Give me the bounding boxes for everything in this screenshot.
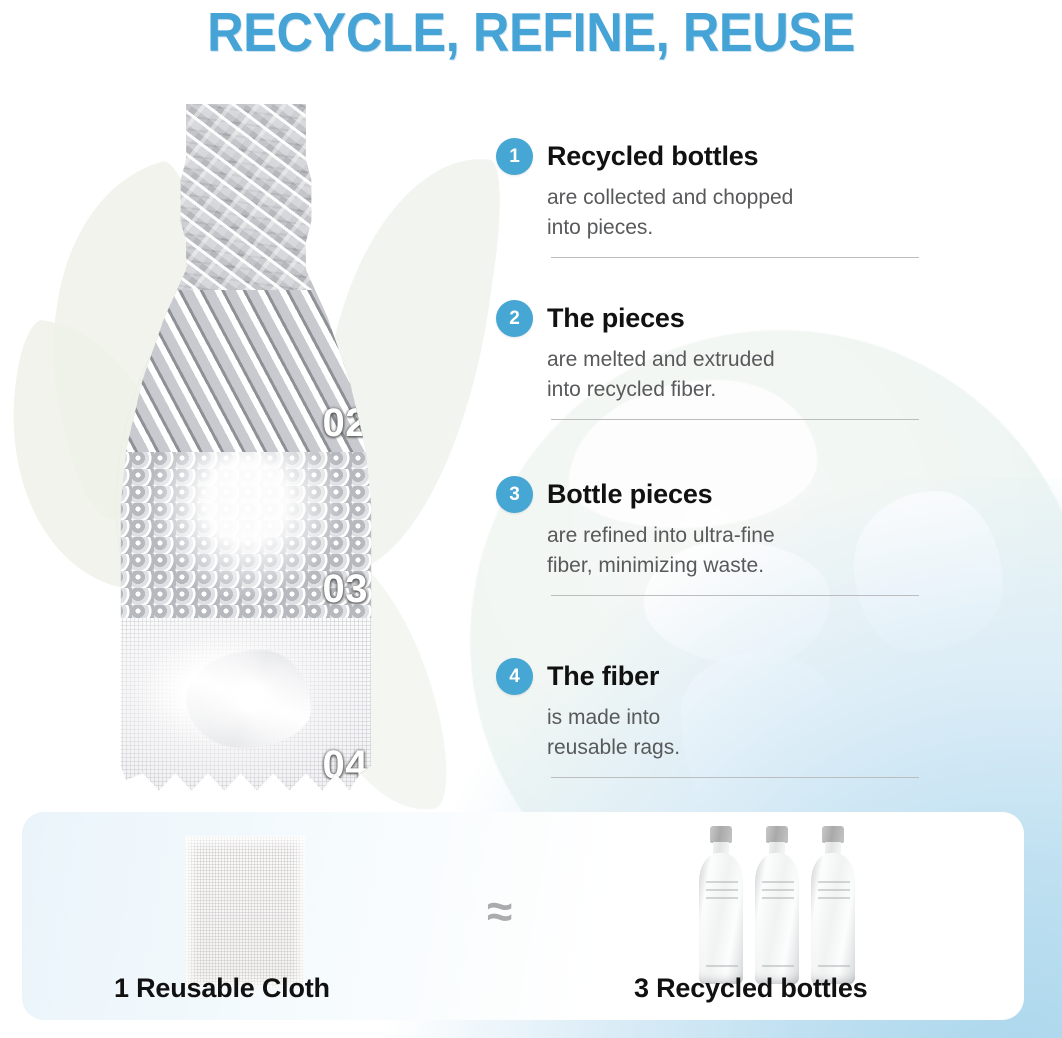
bottle-body (699, 853, 743, 984)
bottle-cap-icon (766, 826, 788, 843)
step-header: 4 The fiber (496, 658, 926, 695)
mini-bottle-icon (810, 826, 856, 984)
step-description: are melted and extruded into recycled fi… (547, 345, 926, 405)
process-step-4: 4 The fiber is made into reusable rags. (496, 658, 926, 788)
step-divider (551, 595, 919, 596)
step-header: 3 Bottle pieces (496, 476, 926, 513)
bottle-band-04: 04 (110, 618, 382, 794)
bottle-rib (706, 965, 738, 967)
step-number-badge: 2 (496, 300, 533, 337)
reusable-cloth-label: 1 Reusable Cloth (114, 973, 330, 1004)
bottle-silhouette-graphic: 01 02 03 04 (110, 104, 382, 794)
bottle-rib (818, 897, 850, 899)
step-title: Recycled bottles (547, 141, 758, 172)
bottle-body (755, 853, 799, 984)
bottle-band-01: 01 (110, 104, 382, 290)
step-description: are collected and chopped into pieces. (547, 183, 926, 243)
step-description: are refined into ultra-fine fiber, minim… (547, 521, 926, 581)
bottle-rib (706, 897, 738, 899)
step-title: The pieces (547, 303, 685, 334)
page-title: RECYCLE, REFINE, REUSE (42, 2, 1019, 62)
step-divider (551, 777, 919, 778)
process-step-3: 3 Bottle pieces are refined into ultra-f… (496, 476, 926, 658)
approximately-equal-icon: ≈ (487, 888, 512, 934)
bottle-body (811, 853, 855, 984)
step-title: Bottle pieces (547, 479, 712, 510)
bottle-rib (762, 889, 794, 891)
bottle-rib (762, 965, 794, 967)
process-steps-list: 1 Recycled bottles are collected and cho… (496, 138, 926, 788)
reusable-cloth-swatch-icon (185, 836, 305, 988)
recycled-bottles-graphic (698, 826, 878, 988)
bottle-cap-icon (710, 826, 732, 843)
band-number-label: 04 (323, 743, 369, 788)
mini-bottle-icon (698, 826, 744, 984)
bottle-rib (818, 889, 850, 891)
band-number-label: 01 (323, 239, 369, 284)
step-divider (551, 257, 919, 258)
band-number-label: 03 (323, 567, 369, 612)
equivalence-card: ≈ (22, 812, 1024, 1020)
band-number-label: 02 (323, 401, 369, 446)
step-header: 2 The pieces (496, 300, 926, 337)
bottle-rib (818, 881, 850, 883)
bottle-cap-icon (822, 826, 844, 843)
step-title: The fiber (547, 661, 659, 692)
bottle-band-02: 02 (110, 290, 382, 452)
step-number-badge: 1 (496, 138, 533, 175)
process-step-1: 1 Recycled bottles are collected and cho… (496, 138, 926, 300)
step-header: 1 Recycled bottles (496, 138, 926, 175)
bottle-rib (762, 897, 794, 899)
step-description: is made into reusable rags. (547, 703, 926, 763)
bottle-rib (706, 881, 738, 883)
process-step-2: 2 The pieces are melted and extruded int… (496, 300, 926, 476)
bottle-band-03: 03 (110, 452, 382, 618)
bottle-rib (818, 965, 850, 967)
bottle-rib (762, 881, 794, 883)
recycled-bottles-label: 3 Recycled bottles (634, 973, 868, 1004)
bottle-rib (706, 889, 738, 891)
mini-bottle-icon (754, 826, 800, 984)
step-divider (551, 419, 919, 420)
step-number-badge: 4 (496, 658, 533, 695)
step-number-badge: 3 (496, 476, 533, 513)
infographic-page: RECYCLE, REFINE, REUSE 01 02 03 04 1 Rec… (0, 0, 1062, 1038)
